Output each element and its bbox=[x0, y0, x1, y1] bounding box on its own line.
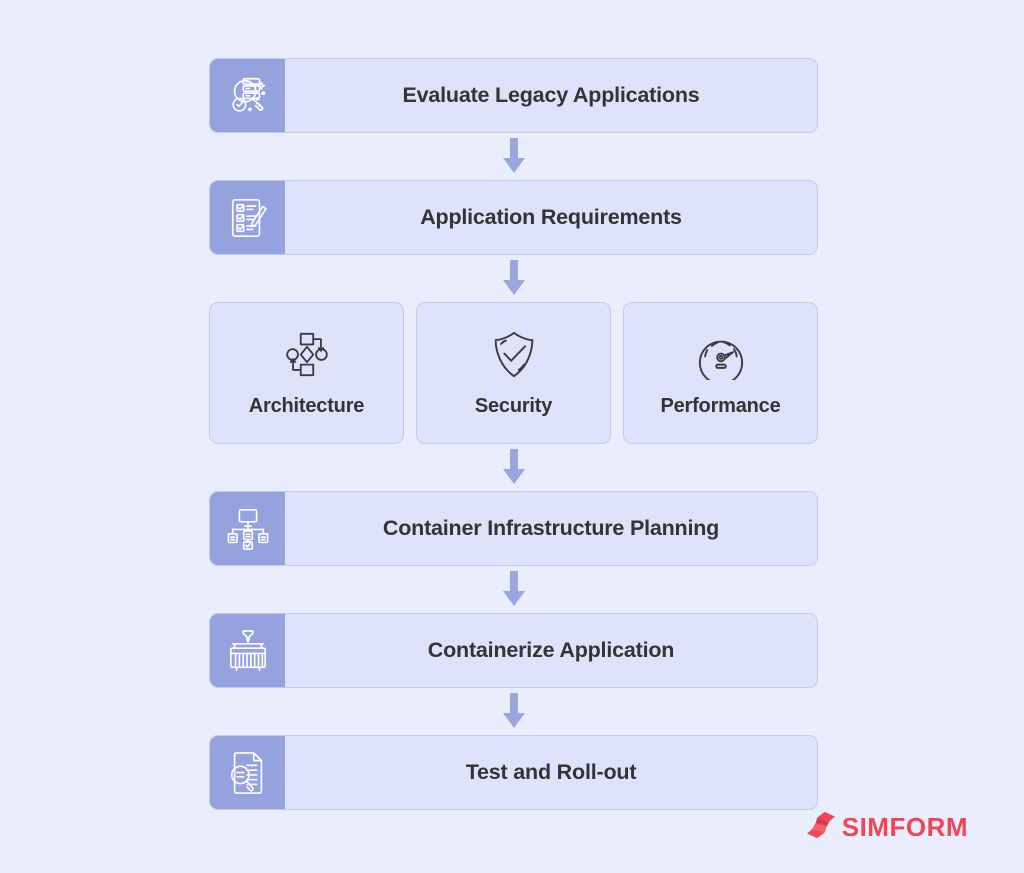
flow-step-label: Application Requirements bbox=[285, 181, 817, 254]
branch-card-architecture[interactable]: Architecture bbox=[209, 302, 404, 444]
checklist-pen-icon bbox=[210, 181, 285, 254]
shipping-container-icon bbox=[210, 614, 285, 687]
down-arrow-icon bbox=[209, 444, 818, 491]
shield-check-icon bbox=[490, 329, 538, 381]
network-tree-icon bbox=[210, 492, 285, 565]
flowchart-nodes-icon bbox=[282, 329, 332, 381]
simform-logo[interactable]: SIMFORM bbox=[806, 810, 968, 845]
flow-step-label: Evaluate Legacy Applications bbox=[285, 59, 817, 132]
branch-card-row: Architecture Security bbox=[209, 302, 818, 444]
branch-card-security[interactable]: Security bbox=[416, 302, 611, 444]
down-arrow-icon bbox=[209, 688, 818, 735]
down-arrow-icon bbox=[209, 133, 818, 180]
flow-step-label: Container Infrastructure Planning bbox=[285, 492, 817, 565]
flow-step-label: Containerize Application bbox=[285, 614, 817, 687]
branch-card-label: Security bbox=[475, 395, 552, 418]
document-magnifier-icon bbox=[210, 736, 285, 809]
flow-step-containerize-application[interactable]: Containerize Application bbox=[209, 613, 818, 688]
flow-step-application-requirements[interactable]: Application Requirements bbox=[209, 180, 818, 255]
down-arrow-icon bbox=[209, 255, 818, 302]
flowchart-container: Evaluate Legacy Applications bbox=[209, 58, 818, 810]
down-arrow-icon bbox=[209, 566, 818, 613]
branch-card-label: Architecture bbox=[249, 395, 364, 418]
server-magnifier-icon bbox=[210, 59, 285, 132]
flow-step-evaluate-legacy-applications[interactable]: Evaluate Legacy Applications bbox=[209, 58, 818, 133]
branch-card-performance[interactable]: Performance bbox=[623, 302, 818, 444]
simform-logo-icon bbox=[806, 810, 836, 845]
flow-step-test-and-roll-out[interactable]: Test and Roll-out bbox=[209, 735, 818, 810]
flow-step-container-infrastructure-planning[interactable]: Container Infrastructure Planning bbox=[209, 491, 818, 566]
simform-logo-text: SIMFORM bbox=[842, 812, 968, 843]
speedometer-icon bbox=[696, 329, 746, 381]
flow-step-label: Test and Roll-out bbox=[285, 736, 817, 809]
branch-card-label: Performance bbox=[660, 395, 780, 418]
